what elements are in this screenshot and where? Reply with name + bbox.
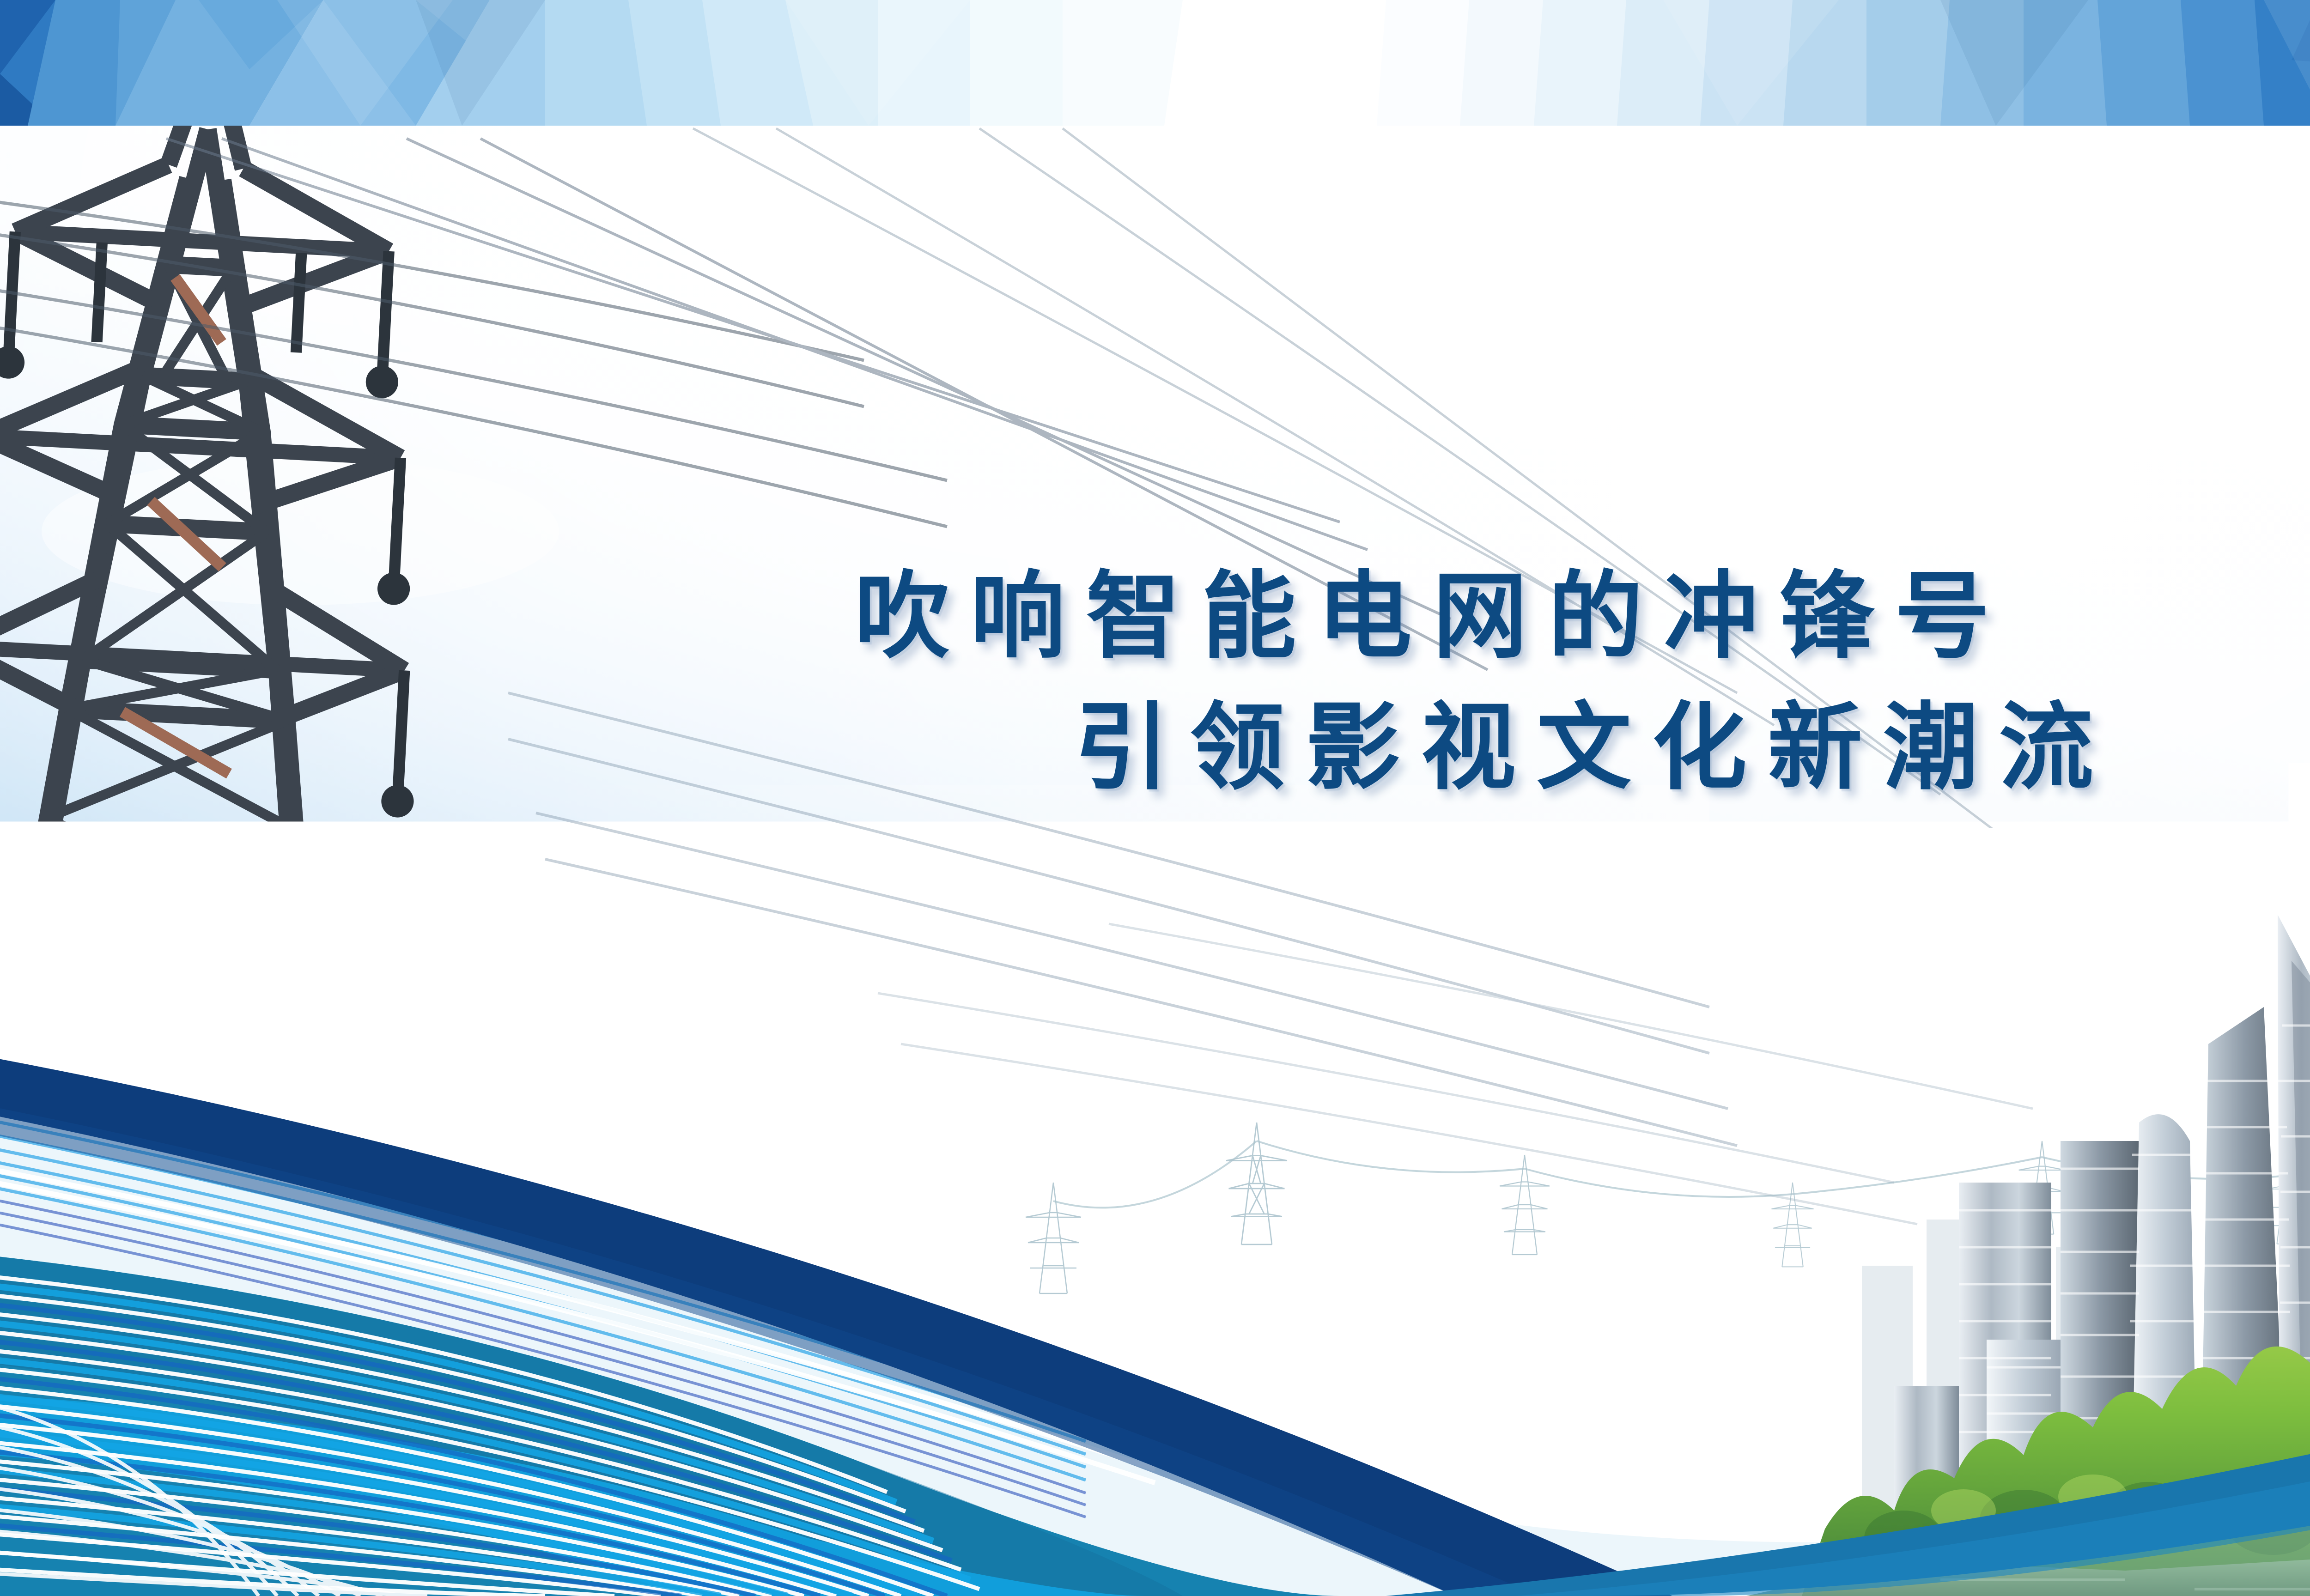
- poster-canvas: 吹响智能电网的冲锋号 引领影视文化新潮流: [0, 0, 2310, 1596]
- low-poly-svg: [0, 0, 2310, 126]
- background-photo-scene: [0, 0, 2310, 1596]
- low-poly-header-band: [0, 0, 2310, 126]
- scene-svg: [0, 0, 2310, 1596]
